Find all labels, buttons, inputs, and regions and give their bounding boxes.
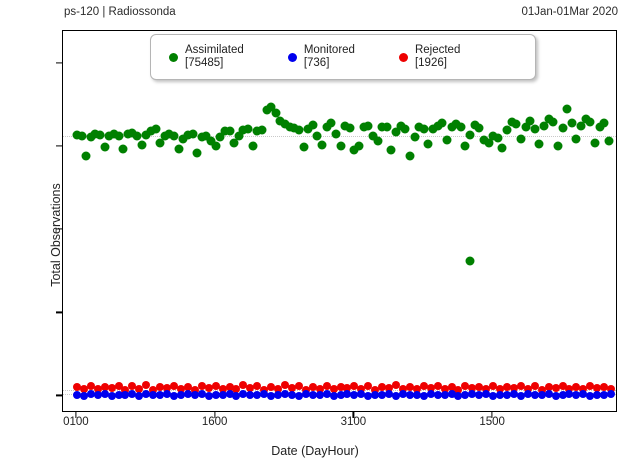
- plot-frame: [62, 30, 617, 412]
- data-point: [516, 134, 525, 143]
- data-point: [563, 104, 572, 113]
- chart-page: ps-120 | Radiossonda 01Jan-01Mar 2020 To…: [0, 0, 630, 470]
- data-point: [257, 126, 266, 135]
- data-point: [586, 118, 595, 127]
- data-point: [424, 139, 433, 148]
- data-point: [336, 142, 345, 151]
- data-point: [530, 124, 539, 133]
- data-point: [364, 121, 373, 130]
- data-point: [567, 119, 576, 128]
- data-point: [572, 134, 581, 143]
- data-point: [345, 124, 354, 133]
- circle-marker-icon: [288, 53, 297, 62]
- data-point: [137, 141, 146, 150]
- header-date-range: 01Jan-01Mar 2020: [521, 6, 618, 18]
- data-point: [466, 131, 475, 140]
- data-point: [590, 138, 599, 147]
- data-point: [558, 123, 567, 132]
- data-point: [188, 129, 197, 138]
- data-point: [225, 126, 234, 135]
- data-point: [248, 142, 257, 151]
- data-point: [475, 124, 484, 133]
- data-point: [600, 119, 609, 128]
- data-point: [498, 144, 507, 153]
- circle-marker-icon: [399, 53, 408, 62]
- data-point: [387, 146, 396, 155]
- data-point: [405, 151, 414, 160]
- x-tick-mark: [353, 412, 354, 418]
- data-point: [313, 132, 322, 141]
- data-point: [151, 124, 160, 133]
- data-point: [82, 152, 91, 161]
- data-point: [96, 131, 105, 140]
- legend-count-monitored: [736]: [304, 57, 355, 70]
- data-point: [133, 131, 142, 140]
- data-point: [549, 117, 558, 126]
- data-point: [553, 141, 562, 150]
- x-tick-mark: [214, 412, 215, 418]
- data-point: [211, 141, 220, 150]
- chart-legend: Assimilated [75485] Monitored [736] Reje…: [150, 34, 536, 80]
- data-point: [327, 118, 336, 127]
- data-point: [419, 124, 428, 133]
- header-station-label: ps-120 | Radiossonda: [64, 6, 176, 18]
- data-point: [442, 136, 451, 145]
- data-point: [373, 137, 382, 146]
- data-point: [193, 149, 202, 158]
- data-point: [294, 125, 303, 134]
- data-point: [503, 126, 512, 135]
- data-point: [607, 390, 615, 398]
- data-point: [410, 133, 419, 142]
- legend-item-assimilated[interactable]: Assimilated [75485]: [169, 44, 244, 70]
- x-tick-mark: [75, 412, 76, 418]
- legend-count-rejected: [1926]: [415, 57, 460, 70]
- data-point: [100, 143, 109, 152]
- data-point: [308, 120, 317, 129]
- data-point: [512, 120, 521, 129]
- data-point: [170, 131, 179, 140]
- data-point: [401, 124, 410, 133]
- data-point: [535, 140, 544, 149]
- x-axis-title: Date (DayHour): [0, 444, 630, 458]
- legend-item-monitored[interactable]: Monitored [736]: [288, 44, 355, 70]
- circle-marker-icon: [169, 53, 178, 62]
- data-point: [466, 257, 475, 266]
- data-point: [461, 141, 470, 150]
- data-point: [355, 142, 364, 151]
- data-point: [456, 122, 465, 131]
- data-point: [244, 124, 253, 133]
- data-point: [299, 143, 308, 152]
- chart-header: ps-120 | Radiossonda 01Jan-01Mar 2020: [0, 6, 630, 24]
- x-tick-mark: [492, 412, 493, 418]
- data-point: [604, 136, 613, 145]
- data-point: [493, 134, 502, 143]
- data-point: [174, 144, 183, 153]
- data-point: [114, 132, 123, 141]
- data-point: [77, 131, 86, 140]
- data-point: [318, 140, 327, 149]
- data-point: [331, 129, 340, 138]
- data-point: [438, 119, 447, 128]
- legend-label-assimilated: Assimilated: [185, 44, 244, 57]
- legend-label-monitored: Monitored: [304, 44, 355, 57]
- legend-item-rejected[interactable]: Rejected [1926]: [399, 44, 460, 70]
- plot-area: [63, 31, 616, 411]
- legend-label-rejected: Rejected: [415, 44, 460, 57]
- data-point: [382, 123, 391, 132]
- data-point: [119, 144, 128, 153]
- legend-count-assimilated: [75485]: [185, 57, 244, 70]
- y-axis-title: Total Observations: [49, 183, 63, 287]
